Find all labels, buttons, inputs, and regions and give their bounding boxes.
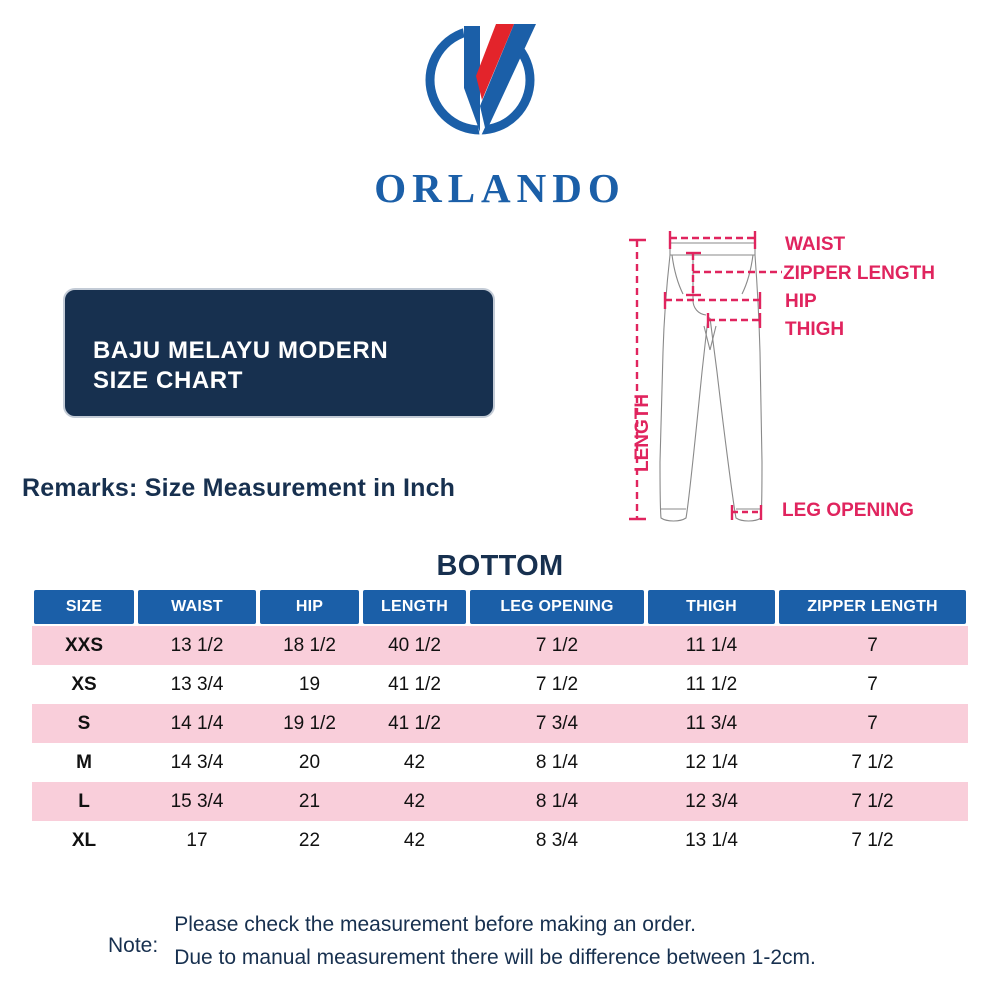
size-chart-page: ORLANDO BAJU MELAYU MODERN SIZE CHART Re… (0, 0, 1000, 1000)
cell-leg-opening: 7 3/4 (468, 704, 646, 743)
chart-title-line-1: BAJU MELAYU MODERN (93, 336, 493, 366)
cell-size: XS (32, 665, 136, 704)
chart-title-panel: BAJU MELAYU MODERN SIZE CHART (63, 288, 495, 418)
cell-size: M (32, 743, 136, 782)
cell-length: 40 1/2 (361, 626, 468, 665)
diagram-label-length: LENGTH (632, 394, 653, 472)
table-row: M 14 3/4 20 42 8 1/4 12 1/4 7 1/2 (32, 743, 968, 782)
cell-thigh: 11 3/4 (646, 704, 777, 743)
cell-size: XXS (32, 626, 136, 665)
cell-size: L (32, 782, 136, 821)
cell-leg-opening: 7 1/2 (468, 626, 646, 665)
cell-hip: 22 (258, 821, 361, 860)
table-row: L 15 3/4 21 42 8 1/4 12 3/4 7 1/2 (32, 782, 968, 821)
cell-leg-opening: 7 1/2 (468, 665, 646, 704)
cell-length: 42 (361, 821, 468, 860)
table-header-row: SIZE WAIST HIP LENGTH LEG OPENING THIGH … (32, 588, 968, 626)
note-label: Note: (108, 908, 174, 958)
note-body: Please check the measurement before maki… (174, 908, 816, 974)
cell-thigh: 11 1/4 (646, 626, 777, 665)
table-row: XL 17 22 42 8 3/4 13 1/4 7 1/2 (32, 821, 968, 860)
column-header-hip: HIP (258, 588, 361, 626)
orlando-v-monogram-icon (418, 14, 558, 144)
cell-zipper-length: 7 (777, 704, 968, 743)
cell-length: 42 (361, 743, 468, 782)
cell-hip: 20 (258, 743, 361, 782)
note-line-2: Due to manual measurement there will be … (174, 941, 816, 974)
column-header-length: LENGTH (361, 588, 468, 626)
column-header-leg-opening: LEG OPENING (468, 588, 646, 626)
cell-zipper-length: 7 1/2 (777, 782, 968, 821)
cell-waist: 13 1/2 (136, 626, 258, 665)
cell-leg-opening: 8 3/4 (468, 821, 646, 860)
brand-wordmark: ORLANDO (0, 168, 1000, 209)
cell-waist: 14 1/4 (136, 704, 258, 743)
cell-waist: 14 3/4 (136, 743, 258, 782)
cell-size: XL (32, 821, 136, 860)
cell-zipper-length: 7 (777, 626, 968, 665)
diagram-label-leg-opening: LEG OPENING (782, 500, 914, 521)
cell-length: 41 1/2 (361, 704, 468, 743)
cell-leg-opening: 8 1/4 (468, 743, 646, 782)
cell-waist: 15 3/4 (136, 782, 258, 821)
table-row: XS 13 3/4 19 41 1/2 7 1/2 11 1/2 7 (32, 665, 968, 704)
table-row: S 14 1/4 19 1/2 41 1/2 7 3/4 11 3/4 7 (32, 704, 968, 743)
diagram-label-waist: WAIST (785, 234, 846, 255)
cell-waist: 17 (136, 821, 258, 860)
column-header-zipper-length: ZIPPER LENGTH (777, 588, 968, 626)
cell-length: 41 1/2 (361, 665, 468, 704)
table-row: XXS 13 1/2 18 1/2 40 1/2 7 1/2 11 1/4 7 (32, 626, 968, 665)
cell-zipper-length: 7 1/2 (777, 821, 968, 860)
cell-thigh: 12 1/4 (646, 743, 777, 782)
cell-leg-opening: 8 1/4 (468, 782, 646, 821)
diagram-label-hip: HIP (785, 291, 817, 312)
section-heading: BOTTOM (0, 550, 1000, 583)
cell-thigh: 12 3/4 (646, 782, 777, 821)
chart-title-line-2: SIZE CHART (93, 366, 493, 396)
size-chart-table: SIZE WAIST HIP LENGTH LEG OPENING THIGH … (32, 588, 968, 860)
trousers-measurement-diagram: WAIST ZIPPER LENGTH HIP THIGH LEG OPENIN… (620, 222, 1000, 542)
cell-zipper-length: 7 1/2 (777, 743, 968, 782)
remarks-text: Remarks: Size Measurement in Inch (22, 474, 455, 503)
column-header-waist: WAIST (136, 588, 258, 626)
cell-zipper-length: 7 (777, 665, 968, 704)
footer-note: Note: Please check the measurement befor… (108, 908, 816, 974)
cell-length: 42 (361, 782, 468, 821)
note-line-1: Please check the measurement before maki… (174, 908, 816, 941)
cell-hip: 18 1/2 (258, 626, 361, 665)
cell-hip: 21 (258, 782, 361, 821)
cell-hip: 19 1/2 (258, 704, 361, 743)
cell-thigh: 11 1/2 (646, 665, 777, 704)
diagram-label-zipper-length: ZIPPER LENGTH (783, 263, 935, 284)
cell-waist: 13 3/4 (136, 665, 258, 704)
column-header-size: SIZE (32, 588, 136, 626)
cell-size: S (32, 704, 136, 743)
cell-thigh: 13 1/4 (646, 821, 777, 860)
diagram-label-thigh: THIGH (785, 319, 844, 340)
cell-hip: 19 (258, 665, 361, 704)
column-header-thigh: THIGH (646, 588, 777, 626)
